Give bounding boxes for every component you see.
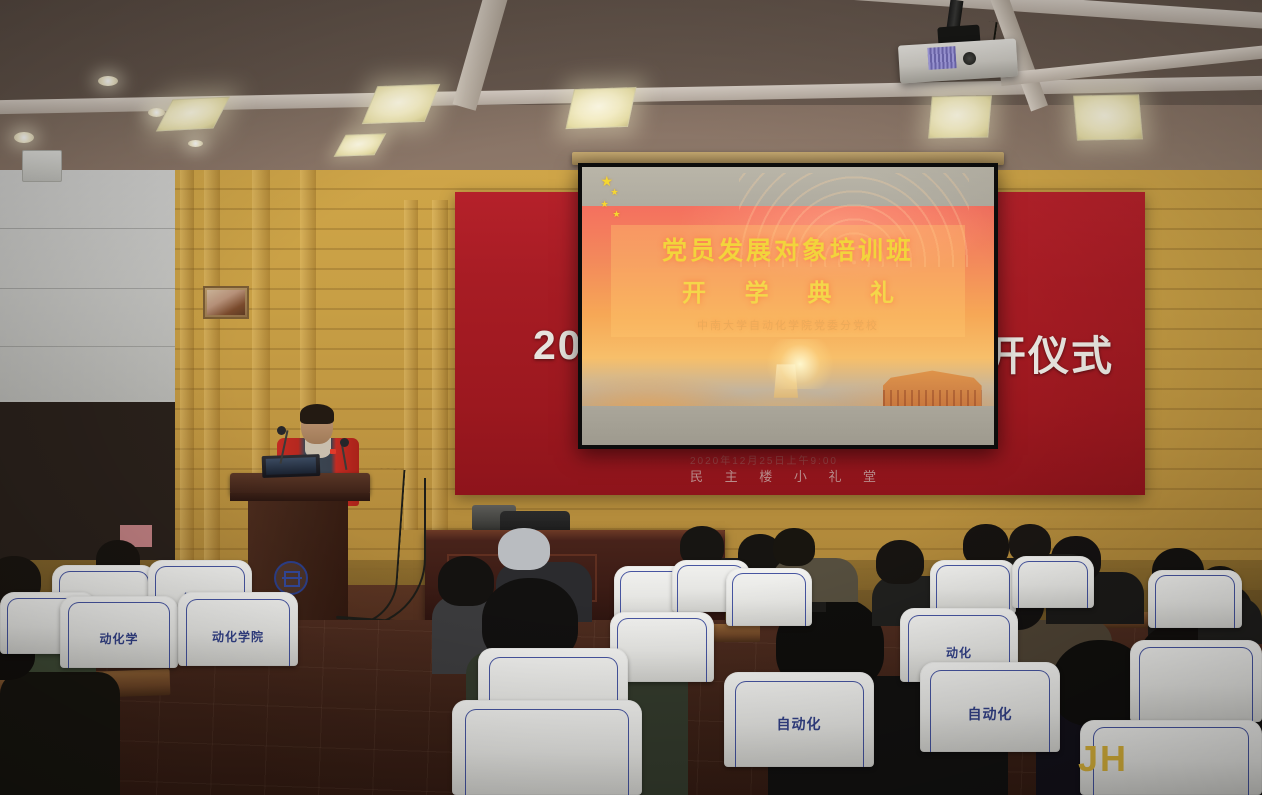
audience-chair — [1012, 556, 1094, 608]
ceiling-downlight — [14, 132, 34, 143]
ceiling-downlight — [148, 108, 165, 117]
microphone-icon — [277, 426, 286, 435]
ceiling-panel-light — [565, 87, 636, 129]
speaker-hair — [300, 404, 334, 424]
projection-screen-surface: ★ ★ ★ ★ ★ 党员发展对象培训班 开 学 典 礼 中南大学自动化学院党委分… — [582, 167, 994, 445]
wall-picture-art — [207, 290, 245, 315]
podium-top-edge — [230, 493, 370, 501]
ceiling-downlight — [188, 140, 203, 147]
wall-pilaster — [204, 170, 220, 590]
wall-pilaster — [180, 170, 194, 590]
audience-chair — [930, 560, 1016, 614]
podium-laptop — [262, 454, 321, 478]
slide-title-line-2: 开 学 典 礼 — [582, 273, 994, 308]
flag-star-icon: ★ — [612, 209, 620, 220]
ceiling-projector — [898, 38, 1018, 83]
chair-cover-label: 动化 — [900, 644, 1018, 661]
banner-text-left: 20 — [533, 322, 583, 369]
banner-text-right: 开仪式 — [985, 322, 1114, 382]
audience-chair: 动化学院 — [178, 592, 298, 666]
audience-chair — [726, 568, 812, 626]
person-head — [773, 528, 815, 566]
slide-overscan-bottom — [582, 406, 994, 445]
chair-cover-label: 动化学院 — [178, 628, 298, 645]
slide-title-line-1: 党员发展对象培训班 — [582, 231, 994, 267]
auditorium-photo: 20 开仪式 2020年12月25日上午9:00 民 主 楼 小 礼 堂 ★ ★… — [0, 0, 1262, 795]
ceiling-panel-light — [334, 133, 387, 156]
audience-chair — [1148, 570, 1242, 628]
chair-cover-label: 自动化 — [724, 714, 874, 734]
university-emblem-icon — [274, 561, 308, 595]
wall-picture-frame — [203, 286, 249, 319]
emblem-inner-shape — [284, 571, 300, 587]
chair-cover-label: 自动化 — [920, 704, 1060, 724]
banner-venue-line: 民 主 楼 小 礼 堂 — [690, 466, 885, 485]
audience-chair: 自动化 — [920, 662, 1060, 752]
chair-cover-label: 动化学 — [60, 630, 178, 647]
flag-star-icon: ★ — [610, 187, 618, 198]
microphone-icon — [340, 438, 349, 447]
person-head — [876, 540, 924, 584]
ceiling-panel-light — [928, 95, 992, 138]
wall-pilaster — [432, 200, 448, 530]
projection-screen: ★ ★ ★ ★ ★ 党员发展对象培训班 开 学 典 礼 中南大学自动化学院党委分… — [578, 163, 998, 449]
banner-date-line: 2020年12月25日上午9:00 — [690, 452, 838, 467]
laptop-screen — [266, 457, 317, 475]
audience-chair: 动化学 — [60, 596, 178, 668]
projector-vent — [927, 46, 956, 70]
ceiling-downlight — [98, 76, 118, 86]
person-head — [438, 556, 494, 606]
speaker-badge — [330, 449, 336, 454]
jacket-text-jh: JH — [1078, 738, 1128, 780]
audience-chair — [452, 700, 642, 795]
slide-sun-glow — [763, 339, 837, 389]
person-head — [498, 528, 550, 570]
emblem-bar — [282, 577, 302, 579]
audience-chair: 自动化 — [724, 672, 874, 767]
flag-star-icon: ★ — [600, 199, 608, 210]
slide-subtitle: 中南大学自动化学院党委分党校 — [582, 317, 994, 333]
wall-vent — [22, 150, 62, 182]
person-body — [0, 672, 120, 795]
ceiling-panel-light — [1073, 94, 1143, 140]
audience-chair — [1130, 640, 1262, 722]
